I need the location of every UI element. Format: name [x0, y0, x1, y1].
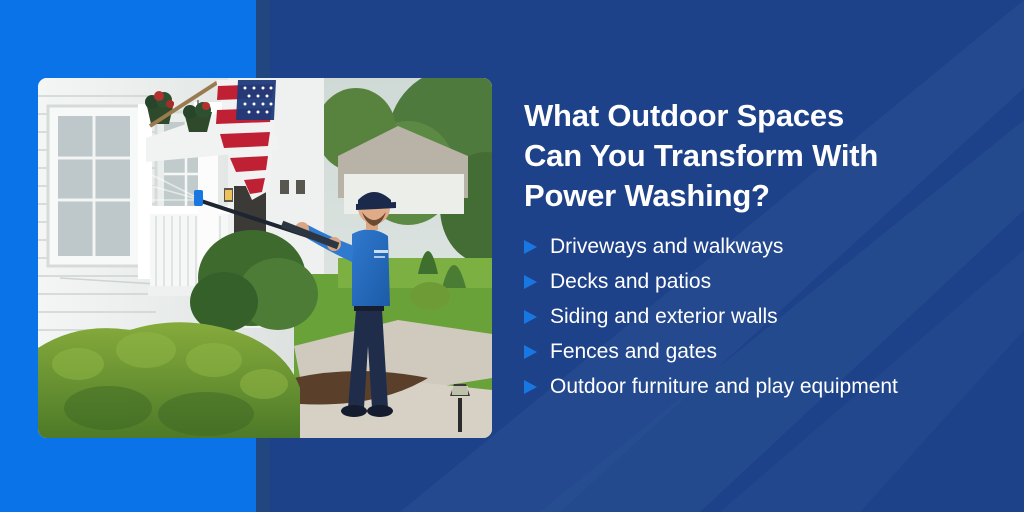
- triangle-right-icon: [524, 310, 537, 324]
- list-item-label: Fences and gates: [550, 338, 717, 366]
- triangle-right-icon: [524, 240, 537, 254]
- list-item: Fences and gates: [524, 334, 994, 369]
- page-title: What Outdoor Spaces Can You Transform Wi…: [524, 96, 984, 216]
- list-item: Driveways and walkways: [524, 229, 994, 264]
- headline-line-1: What Outdoor Spaces: [524, 98, 844, 133]
- content-column: What Outdoor Spaces Can You Transform Wi…: [524, 96, 984, 216]
- triangle-right-icon: [524, 345, 537, 359]
- hero-photo: [38, 78, 492, 438]
- outdoor-spaces-list: Driveways and walkways Decks and patios …: [524, 229, 994, 404]
- list-item-label: Siding and exterior walls: [550, 303, 778, 331]
- list-item-label: Decks and patios: [550, 268, 711, 296]
- triangle-right-icon: [524, 380, 537, 394]
- list-item: Outdoor furniture and play equipment: [524, 369, 994, 404]
- power-washing-promo-banner: What Outdoor Spaces Can You Transform Wi…: [0, 0, 1024, 512]
- list-item-label: Driveways and walkways: [550, 233, 783, 261]
- headline-line-3: Power Washing?: [524, 178, 770, 213]
- power-washing-photo-illustration: [38, 78, 492, 438]
- headline-line-2: Can You Transform With: [524, 138, 878, 173]
- list-item: Decks and patios: [524, 264, 994, 299]
- triangle-right-icon: [524, 275, 537, 289]
- list-item-label: Outdoor furniture and play equipment: [550, 373, 898, 401]
- list-item: Siding and exterior walls: [524, 299, 994, 334]
